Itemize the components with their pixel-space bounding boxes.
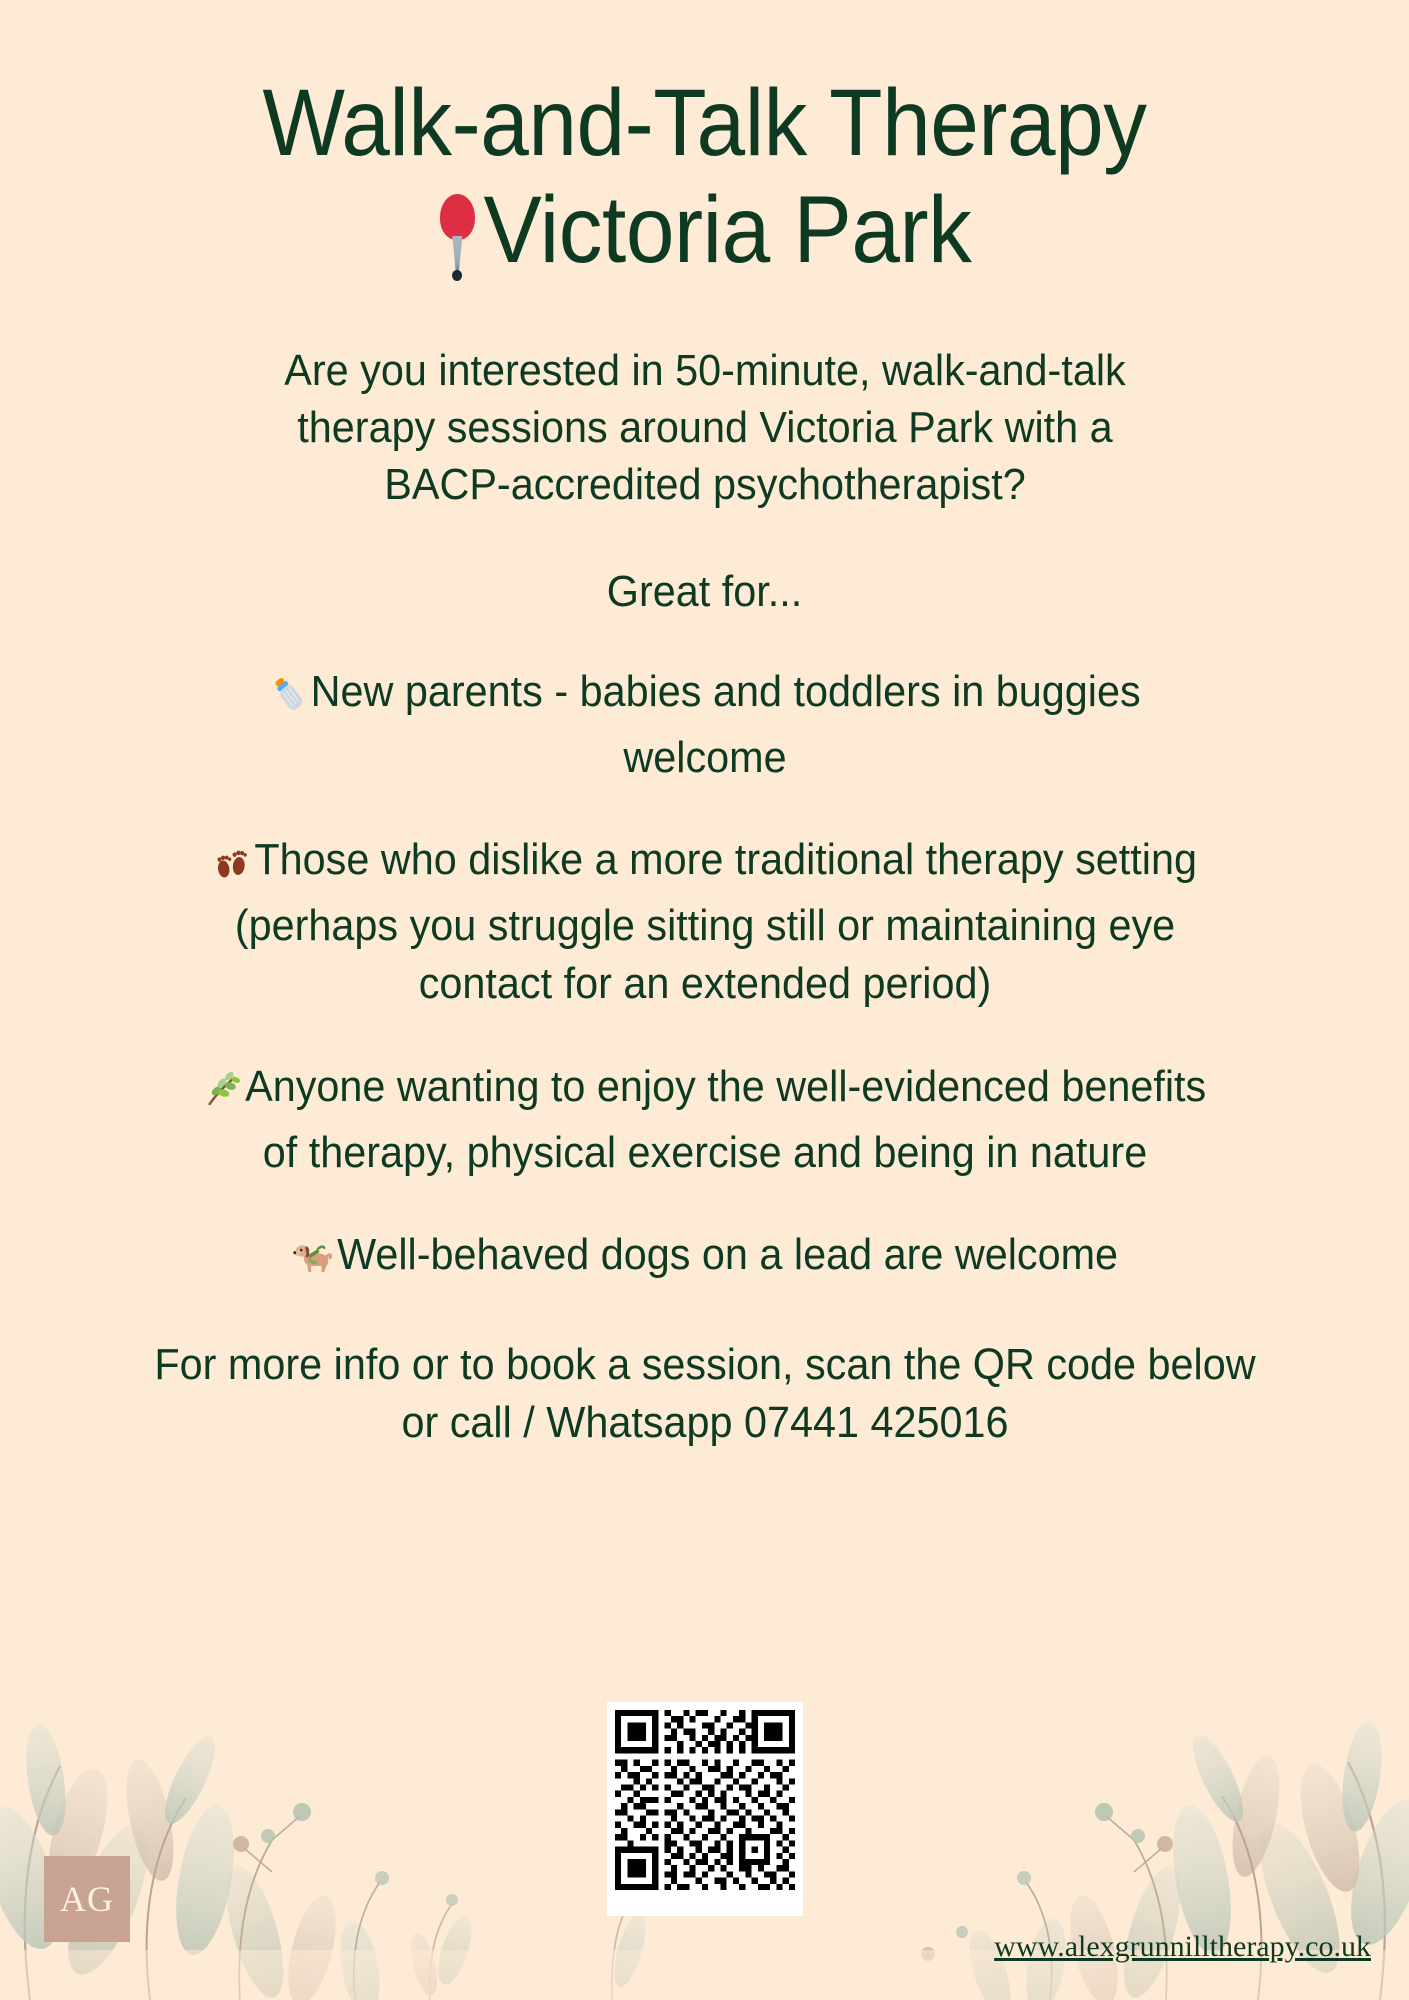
list-item: New parents - babies and toddlers in bug… xyxy=(197,663,1212,787)
list-item-label: Those who dislike a more traditional the… xyxy=(234,835,1196,1008)
page-title: Walk-and-Talk Therapy Victoria Park xyxy=(93,0,1316,280)
list-item-label: Well-behaved dogs on a lead are welcome xyxy=(337,1230,1118,1279)
title-location: Victoria Park xyxy=(484,177,972,283)
poster-content: Walk-and-Talk Therapy Victoria Park Are … xyxy=(0,0,1409,1452)
footprints-icon xyxy=(213,839,251,897)
list-item: Those who dislike a more traditional the… xyxy=(197,831,1212,1013)
list-item: Well-behaved dogs on a lead are welcome xyxy=(197,1226,1212,1292)
intro-paragraph: Are you interested in 50-minute, walk-an… xyxy=(235,342,1175,514)
title-line-2: Victoria Park xyxy=(93,181,1316,280)
poster-canvas: Walk-and-Talk Therapy Victoria Park Are … xyxy=(0,0,1409,2000)
guide-dog-icon xyxy=(291,1234,332,1292)
website-link[interactable]: www.alexgrunnilltherapy.co.uk xyxy=(994,1930,1371,1964)
logo-initials: AG xyxy=(60,1878,114,1920)
list-item-label: New parents - babies and toddlers in bug… xyxy=(310,667,1140,782)
herb-icon xyxy=(203,1066,241,1124)
call-to-action-text: For more info or to book a session, scan… xyxy=(150,1336,1259,1452)
list-item: Anyone wanting to enjoy the well-evidenc… xyxy=(197,1058,1212,1182)
baby-bottle-icon xyxy=(269,671,307,729)
list-item-label: Anyone wanting to enjoy the well-evidenc… xyxy=(245,1062,1206,1177)
qr-code[interactable] xyxy=(607,1702,803,1916)
benefits-list: New parents - babies and toddlers in bug… xyxy=(40,663,1369,1292)
logo-badge: AG xyxy=(44,1856,130,1942)
great-for-heading: Great for... xyxy=(80,567,1329,617)
round-pushpin-icon xyxy=(438,192,478,278)
title-line-1: Walk-and-Talk Therapy xyxy=(262,70,1146,176)
